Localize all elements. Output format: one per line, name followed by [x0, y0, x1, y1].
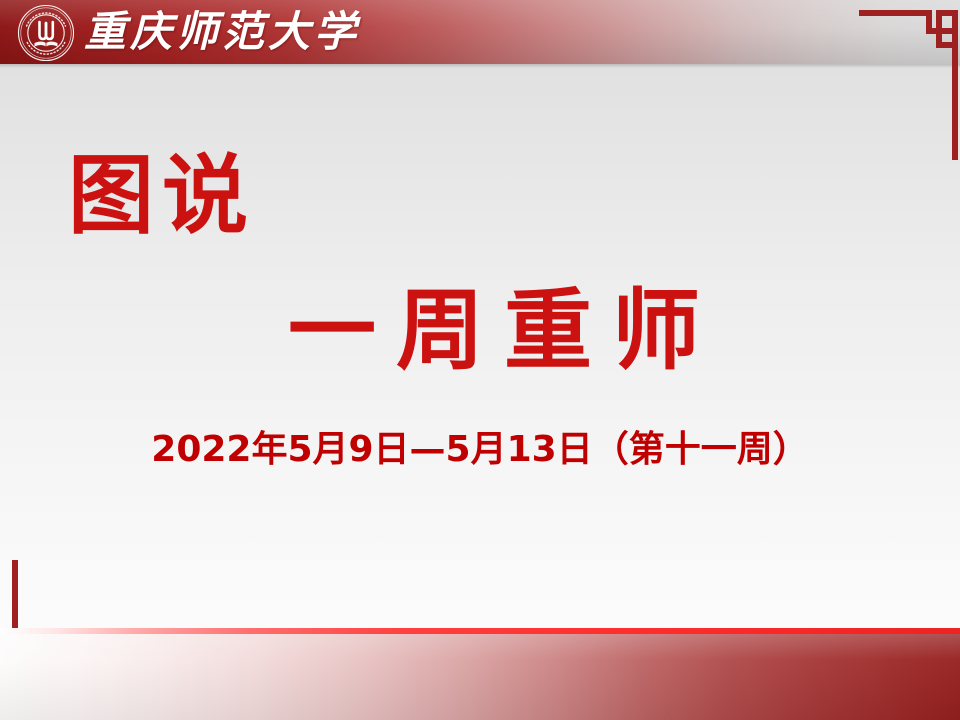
slide-title-line-2: 一周重师: [288, 260, 720, 387]
header-band-shadow: [0, 64, 960, 68]
footer-band: [0, 628, 960, 720]
corner-ornament-top-right: [855, 0, 960, 165]
footer-band-body: [0, 634, 960, 720]
slide-title-line-1: 图说: [68, 125, 256, 250]
slide-date-range: 2022年5月9日—5月13日（第十一周）: [0, 420, 960, 472]
university-name: 重庆师范大学: [84, 3, 360, 61]
university-seal-icon: [17, 4, 75, 62]
presentation-slide: 重庆师范大学: [0, 0, 960, 720]
